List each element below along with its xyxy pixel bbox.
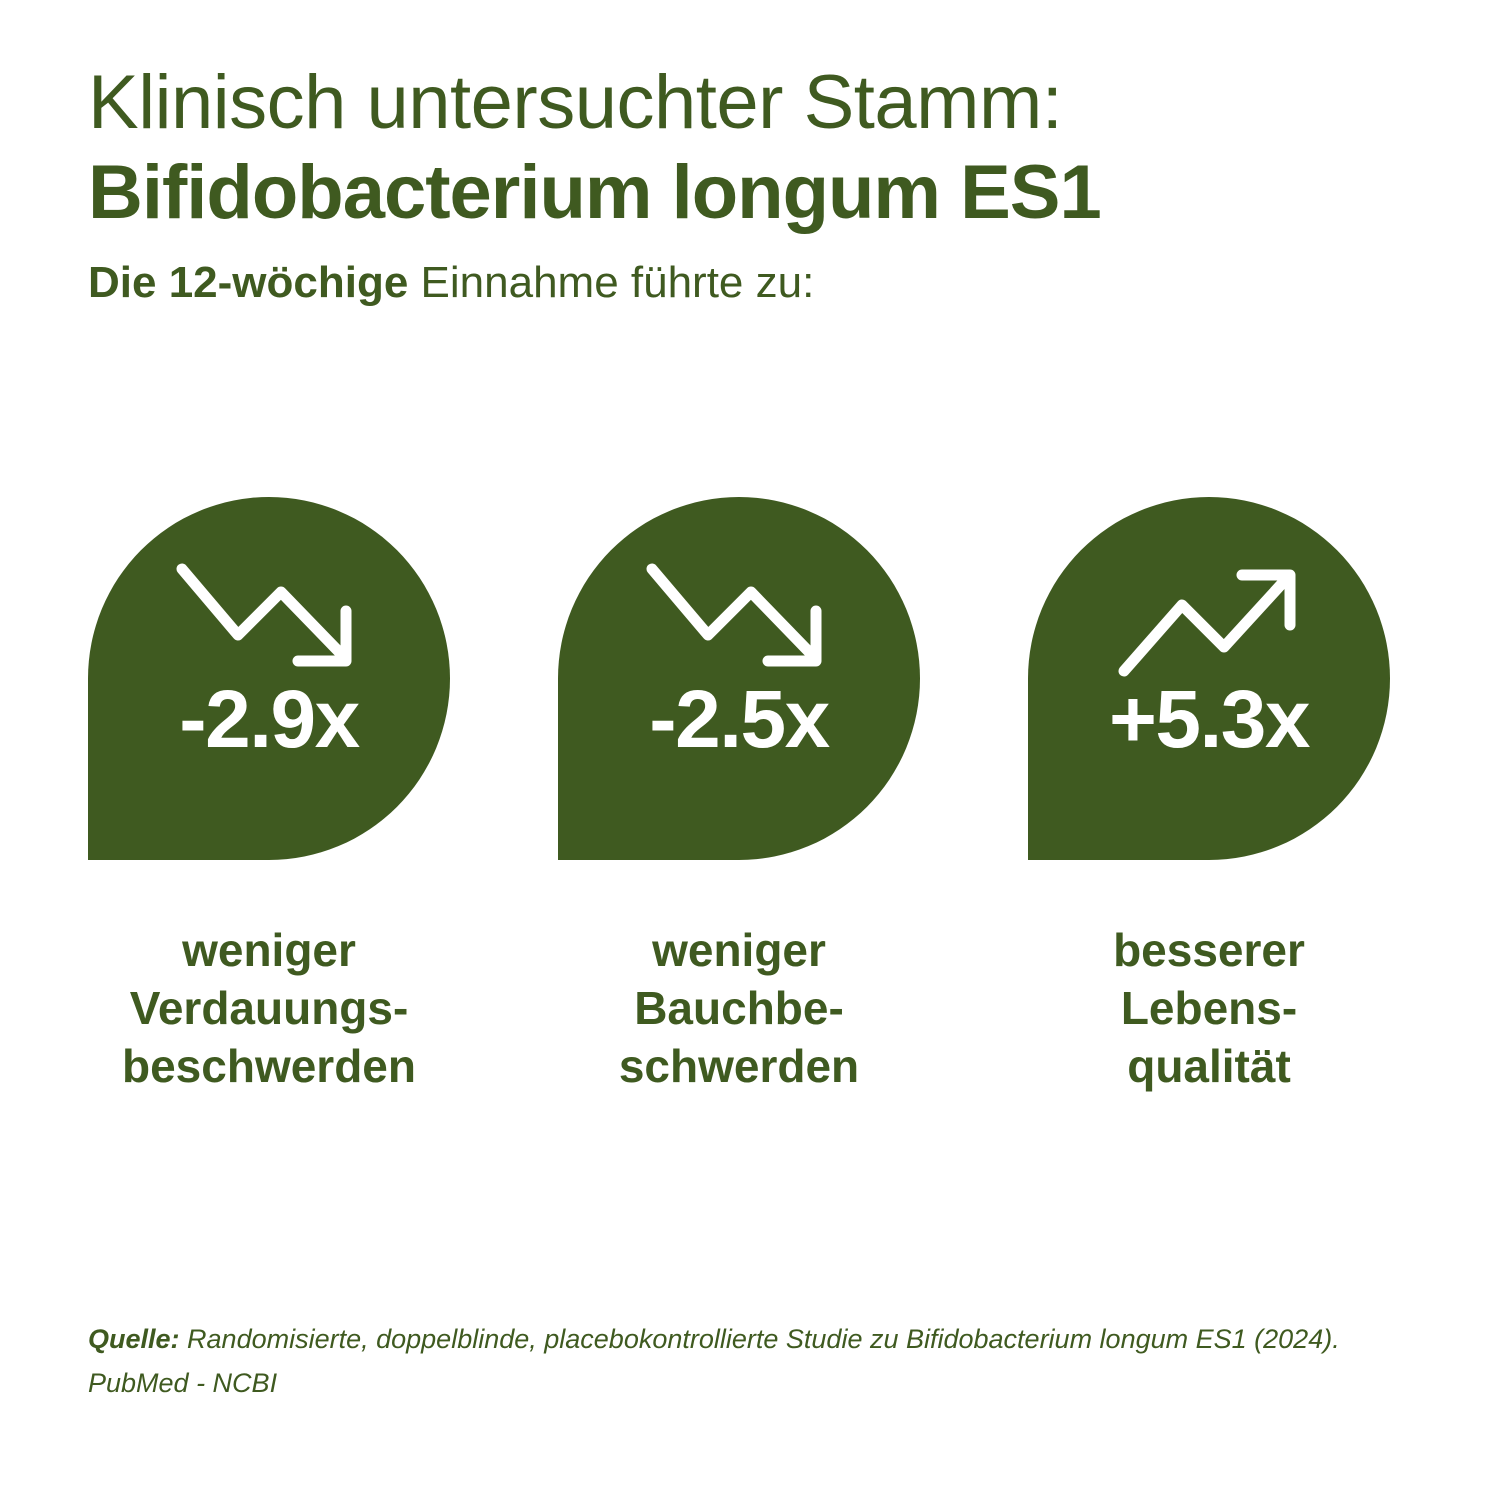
page-title-line-1: Klinisch untersuchter Stamm: — [88, 62, 1418, 144]
stats-row: -2.9x weniger Verdauungs- beschwerden — [88, 497, 1388, 1096]
trend-down-arrow-icon — [174, 561, 364, 679]
subtitle: Die 12-wöchige Einnahme führte zu: — [88, 257, 1418, 310]
page-title-line-2: Bifidobacterium longum ES1 — [88, 150, 1418, 235]
stat-label-line-3: schwerden — [539, 1038, 939, 1096]
trend-down-arrow-icon — [644, 561, 834, 679]
stat-label-line-1: weniger — [539, 922, 939, 980]
stat-item-quality-of-life: +5.3x besserer Lebens- qualität — [1028, 497, 1390, 1096]
stat-badge: +5.3x — [1028, 497, 1390, 860]
stat-badge: -2.9x — [88, 497, 450, 860]
stat-badge: -2.5x — [558, 497, 920, 860]
subtitle-strong: Die 12-wöchige — [88, 258, 408, 307]
stat-label: besserer Lebens- qualität — [1009, 922, 1409, 1096]
stat-label-line-1: weniger — [69, 922, 469, 980]
subtitle-regular: Einnahme führte zu: — [408, 258, 814, 307]
stat-label-line-2: Lebens- — [1009, 980, 1409, 1038]
stat-value: -2.9x — [88, 679, 450, 761]
stat-label: weniger Bauchbe- schwerden — [539, 922, 939, 1096]
stat-label: weniger Verdauungs- beschwerden — [69, 922, 469, 1096]
stat-item-abdominal: -2.5x weniger Bauchbe- schwerden — [558, 497, 920, 1096]
trend-up-arrow-icon — [1114, 561, 1304, 679]
stat-label-line-3: beschwerden — [69, 1038, 469, 1096]
stat-item-digestive: -2.9x weniger Verdauungs- beschwerden — [88, 497, 450, 1096]
stat-label-line-2: Verdauungs- — [69, 980, 469, 1038]
header: Klinisch untersuchter Stamm: Bifidobacte… — [88, 62, 1418, 310]
stat-label-line-2: Bauchbe- — [539, 980, 939, 1038]
stat-value: +5.3x — [1028, 679, 1390, 761]
stat-value: -2.5x — [558, 679, 920, 761]
source-citation: Quelle: Randomisierte, doppelblinde, pla… — [88, 1318, 1388, 1405]
stat-label-line-1: besserer — [1009, 922, 1409, 980]
stat-label-line-3: qualität — [1009, 1038, 1409, 1096]
infographic-canvas: Klinisch untersuchter Stamm: Bifidobacte… — [0, 0, 1500, 1500]
source-text: Randomisierte, doppelblinde, placebokont… — [88, 1324, 1340, 1398]
source-label: Quelle: — [88, 1324, 180, 1354]
